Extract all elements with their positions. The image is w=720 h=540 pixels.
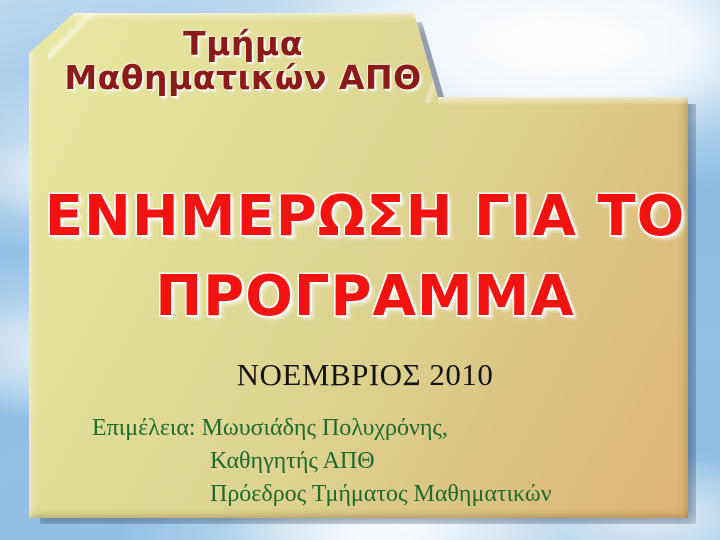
department-name-line-2: Μαθηματικών ΑΠΘ	[28, 61, 458, 95]
slide-content: Τμήμα Μαθηματικών ΑΠΘ ΕΝΗΜΕΡΩΣΗ ΓΙΑ ΤΟ Π…	[0, 0, 720, 540]
slide-credits: Επιμέλεια: Μωυσιάδης Πολυχρόνης, Καθηγητ…	[92, 412, 552, 511]
credits-line-3: Πρόεδρος Τμήματος Μαθηματικών	[92, 478, 552, 511]
presentation-slide: Τμήμα Μαθηματικών ΑΠΘ ΕΝΗΜΕΡΩΣΗ ΓΙΑ ΤΟ Π…	[0, 0, 720, 540]
credits-line-2: Καθηγητής ΑΠΘ	[92, 445, 552, 478]
main-title-line-1: ΕΝΗΜΕΡΩΣΗ ΓΙΑ ΤΟ	[40, 177, 690, 257]
department-name-line-1: Τμήμα	[28, 27, 458, 61]
department-heading: Τμήμα Μαθηματικών ΑΠΘ	[28, 27, 458, 96]
slide-date: ΝΟΕΜΒΡΙΟΣ 2010	[40, 357, 690, 393]
main-title-line-2: ΠΡΟΓΡΑΜΜΑ	[40, 257, 690, 337]
slide-main-title: ΕΝΗΜΕΡΩΣΗ ΓΙΑ ΤΟ ΠΡΟΓΡΑΜΜΑ	[40, 177, 690, 336]
credits-line-1: Επιμέλεια: Μωυσιάδης Πολυχρόνης,	[92, 412, 552, 445]
